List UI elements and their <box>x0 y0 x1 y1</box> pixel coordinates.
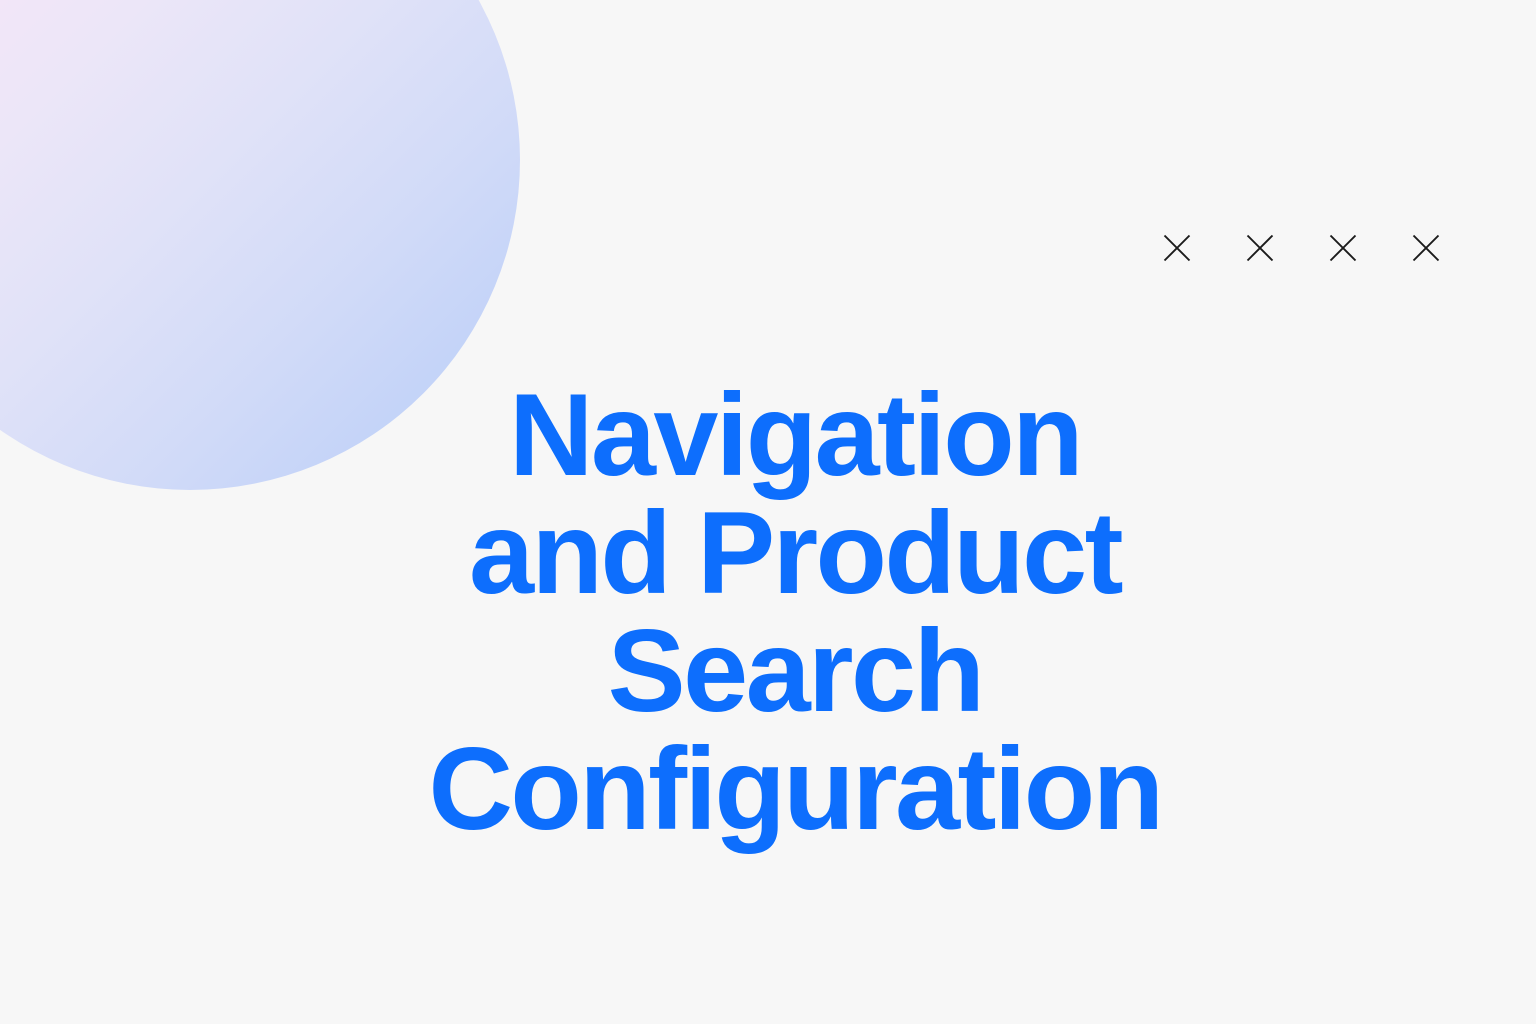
x-mark-row <box>1163 234 1440 262</box>
page-title-line: and Product <box>0 494 1536 612</box>
close-x-icon <box>1412 234 1440 262</box>
page-title-line: Configuration <box>0 730 1536 848</box>
close-x-icon <box>1163 234 1191 262</box>
close-x-icon <box>1329 234 1357 262</box>
close-x-icon <box>1246 234 1274 262</box>
page-title-line: Navigation <box>0 376 1536 494</box>
page-title: Navigation and Product Search Configurat… <box>0 376 1536 848</box>
page-title-line: Search <box>0 612 1536 730</box>
